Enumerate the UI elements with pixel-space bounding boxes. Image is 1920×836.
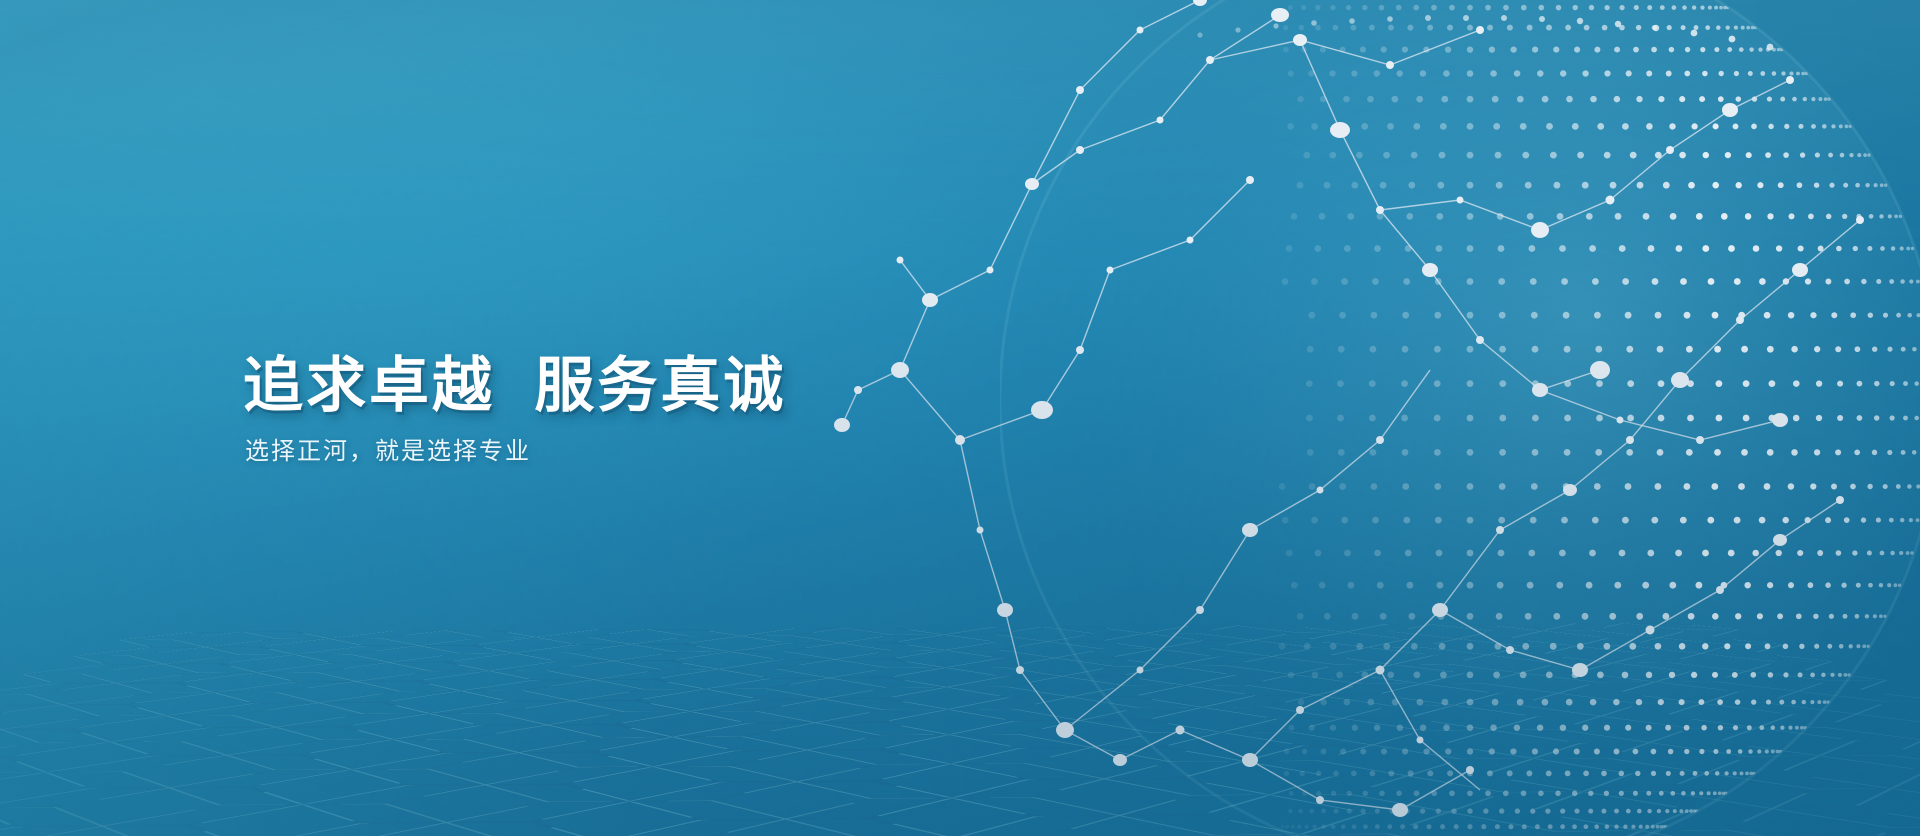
page-subtitle: 选择正河，就是选择专业 [245,435,1063,469]
hero-banner: 追求卓越 服务真诚 选择正河，就是选择专业 [0,0,1920,836]
page-title: 追求卓越 服务真诚 [243,352,1063,419]
hero-copy: 追求卓越 服务真诚 选择正河，就是选择专业 [243,352,1063,469]
